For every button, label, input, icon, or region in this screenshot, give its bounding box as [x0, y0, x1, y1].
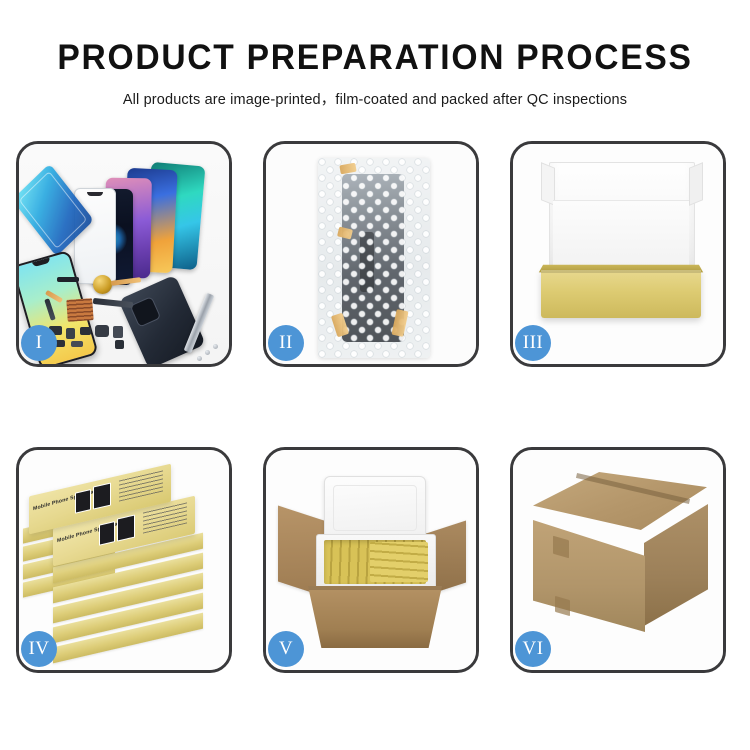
product-photo-swatch — [75, 489, 91, 514]
page-subtitle: All products are image-printed，film-coat… — [0, 88, 750, 109]
process-step-card-1: I — [16, 141, 232, 367]
screw — [213, 344, 218, 349]
foam-sheet — [553, 200, 689, 273]
header: PRODUCT PREPARATION PROCESS All products… — [0, 0, 750, 109]
carton-front-face — [533, 520, 645, 632]
step-badge-2: II — [268, 325, 304, 361]
product-photo-swatch — [93, 482, 111, 509]
cardboard-carton — [308, 586, 442, 648]
chip-component — [113, 326, 123, 338]
chip-component — [71, 341, 83, 347]
carton-tape-patch — [555, 596, 570, 616]
product-photo-swatch — [117, 514, 135, 541]
step-badge-1: I — [21, 325, 57, 361]
yellow-box-front — [541, 270, 701, 318]
process-step-card-4: Mobile Phone Spare Parts Mobile Phone Sp… — [16, 447, 232, 673]
product-preparation-infographic: PRODUCT PREPARATION PROCESS All products… — [0, 0, 750, 750]
packed-yellow-boxes-secondary — [370, 542, 428, 582]
phone-back-shell — [118, 275, 206, 364]
process-step-grid: I II — [16, 141, 734, 673]
screw — [205, 350, 210, 355]
step-badge-5: V — [268, 631, 304, 667]
chip-component — [95, 325, 109, 337]
chip-component — [66, 328, 75, 339]
page-title: PRODUCT PREPARATION PROCESS — [15, 40, 735, 77]
coil-component — [93, 275, 112, 294]
process-step-card-3: III — [510, 141, 726, 367]
step-badge-3: III — [515, 325, 551, 361]
chip-component — [80, 327, 91, 335]
copper-grid-component — [66, 298, 93, 322]
chip-component — [115, 340, 124, 349]
process-step-card-5: V — [263, 447, 479, 673]
process-step-card-6: VI — [510, 447, 726, 673]
screw — [197, 356, 202, 361]
box-stack: Mobile Phone Spare Parts Mobile Phone Sp… — [23, 466, 223, 662]
foam-cooler-lid — [324, 476, 426, 540]
process-step-card-2: II — [263, 141, 479, 367]
product-photo-swatch — [99, 521, 115, 546]
spec-text-lines — [119, 469, 163, 501]
bubble-wrap-bag — [318, 158, 430, 358]
carton-right-face — [644, 504, 708, 626]
step-badge-4: IV — [21, 631, 57, 667]
chip-component — [57, 277, 79, 282]
step-badge-6: VI — [515, 631, 551, 667]
